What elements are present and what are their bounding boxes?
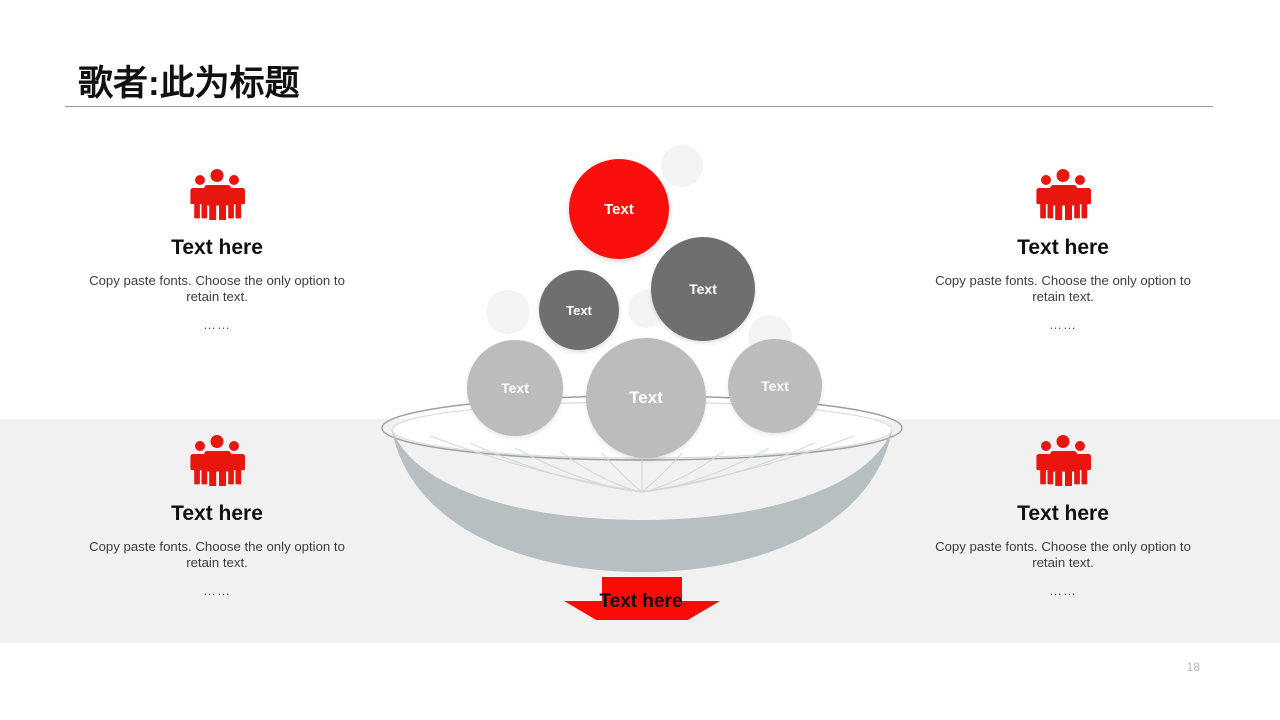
diagram-output-label: Text here <box>541 591 741 613</box>
bubble-label: Text <box>689 281 717 297</box>
info-block-bottom-left[interactable]: Text here Copy paste fonts. Choose the o… <box>67 434 367 598</box>
info-block-bottom-right[interactable]: Text here Copy paste fonts. Choose the o… <box>913 434 1213 598</box>
page-title: 歌者:此为标题 <box>78 55 300 106</box>
people-group-icon <box>1032 434 1094 486</box>
bubble-mid-right[interactable]: Text <box>651 237 755 341</box>
bubble-label: Text <box>761 378 789 394</box>
bubble-label: Text <box>501 380 529 396</box>
info-body: Copy paste fonts. Choose the only option… <box>913 539 1213 571</box>
bowl-diagram: Text Text Text Text Text Text <box>370 140 915 620</box>
info-dots: …… <box>67 317 367 332</box>
bubble-label: Text <box>566 303 592 318</box>
bubble-bottom-center[interactable]: Text <box>586 338 706 458</box>
people-group-icon <box>186 434 248 486</box>
bubble-bottom-right[interactable]: Text <box>728 339 822 433</box>
info-heading: Text here <box>67 236 367 259</box>
info-heading: Text here <box>913 236 1213 259</box>
info-block-top-left[interactable]: Text here Copy paste fonts. Choose the o… <box>67 168 367 332</box>
info-block-top-right[interactable]: Text here Copy paste fonts. Choose the o… <box>913 168 1213 332</box>
slide-canvas: 歌者:此为标题 Text here Copy paste fonts. Choo… <box>0 0 1280 720</box>
info-dots: …… <box>913 317 1213 332</box>
bubble-bottom-left[interactable]: Text <box>467 340 563 436</box>
bubble-top[interactable]: Text <box>569 159 669 259</box>
info-heading: Text here <box>67 502 367 525</box>
bubble-label: Text <box>629 388 663 408</box>
info-body: Copy paste fonts. Choose the only option… <box>913 273 1213 305</box>
bubble-label: Text <box>604 201 634 218</box>
bubble-mid-left[interactable]: Text <box>539 270 619 350</box>
info-dots: …… <box>913 583 1213 598</box>
info-body: Copy paste fonts. Choose the only option… <box>67 273 367 305</box>
info-body: Copy paste fonts. Choose the only option… <box>67 539 367 571</box>
page-number: 18 <box>1187 660 1200 674</box>
title-divider <box>65 106 1213 107</box>
info-dots: …… <box>67 583 367 598</box>
people-group-icon <box>186 168 248 220</box>
info-heading: Text here <box>913 502 1213 525</box>
people-group-icon <box>1032 168 1094 220</box>
